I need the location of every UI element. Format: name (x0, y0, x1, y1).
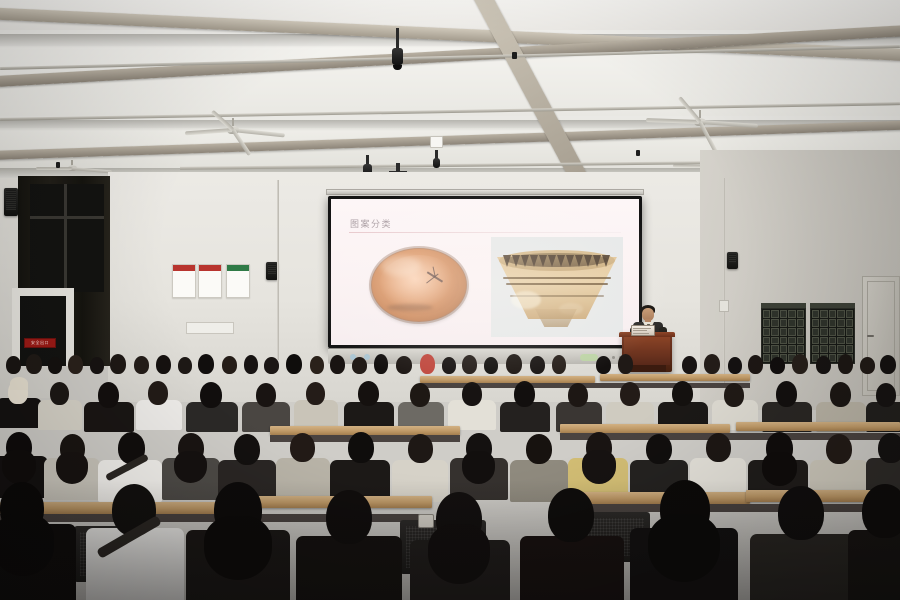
spotlight (390, 28, 404, 80)
dark-window (30, 184, 104, 292)
screen-mount-bar (326, 189, 644, 195)
lecture-hall-photo: 安全出口 (0, 0, 900, 600)
window-mullion (64, 184, 67, 292)
window-mullion (30, 216, 104, 219)
beam-clamp (56, 162, 60, 168)
slide-title: 图案分类 (350, 217, 392, 230)
spotlight (431, 150, 441, 174)
notice-poster-green (226, 264, 250, 298)
notice-poster-red-1 (172, 264, 196, 298)
presentation-slide: 图案分类 (331, 199, 639, 345)
audience (0, 330, 900, 600)
wall-speaker (4, 188, 18, 216)
audience-row-2 (0, 372, 900, 418)
conduit-junction-box (719, 300, 729, 312)
notice-poster-red-2 (198, 264, 222, 298)
audience-row-4 (0, 480, 900, 600)
projection-screen-frame: 图案分类 (328, 196, 642, 348)
wall-speaker (727, 252, 738, 269)
ceiling-fan (640, 110, 760, 136)
ceiling-sensor-box (430, 136, 443, 148)
ceiling-fan (178, 118, 288, 142)
beam-clamp (512, 52, 517, 59)
slide-title-underline (349, 232, 621, 233)
projection-screen: 图案分类 (331, 199, 639, 345)
painted-pottery-basin-top-view (369, 244, 469, 326)
beam-clamp (636, 150, 640, 156)
painted-pottery-bowl-zigzag-band (491, 237, 623, 337)
audience-row-3 (0, 426, 900, 484)
